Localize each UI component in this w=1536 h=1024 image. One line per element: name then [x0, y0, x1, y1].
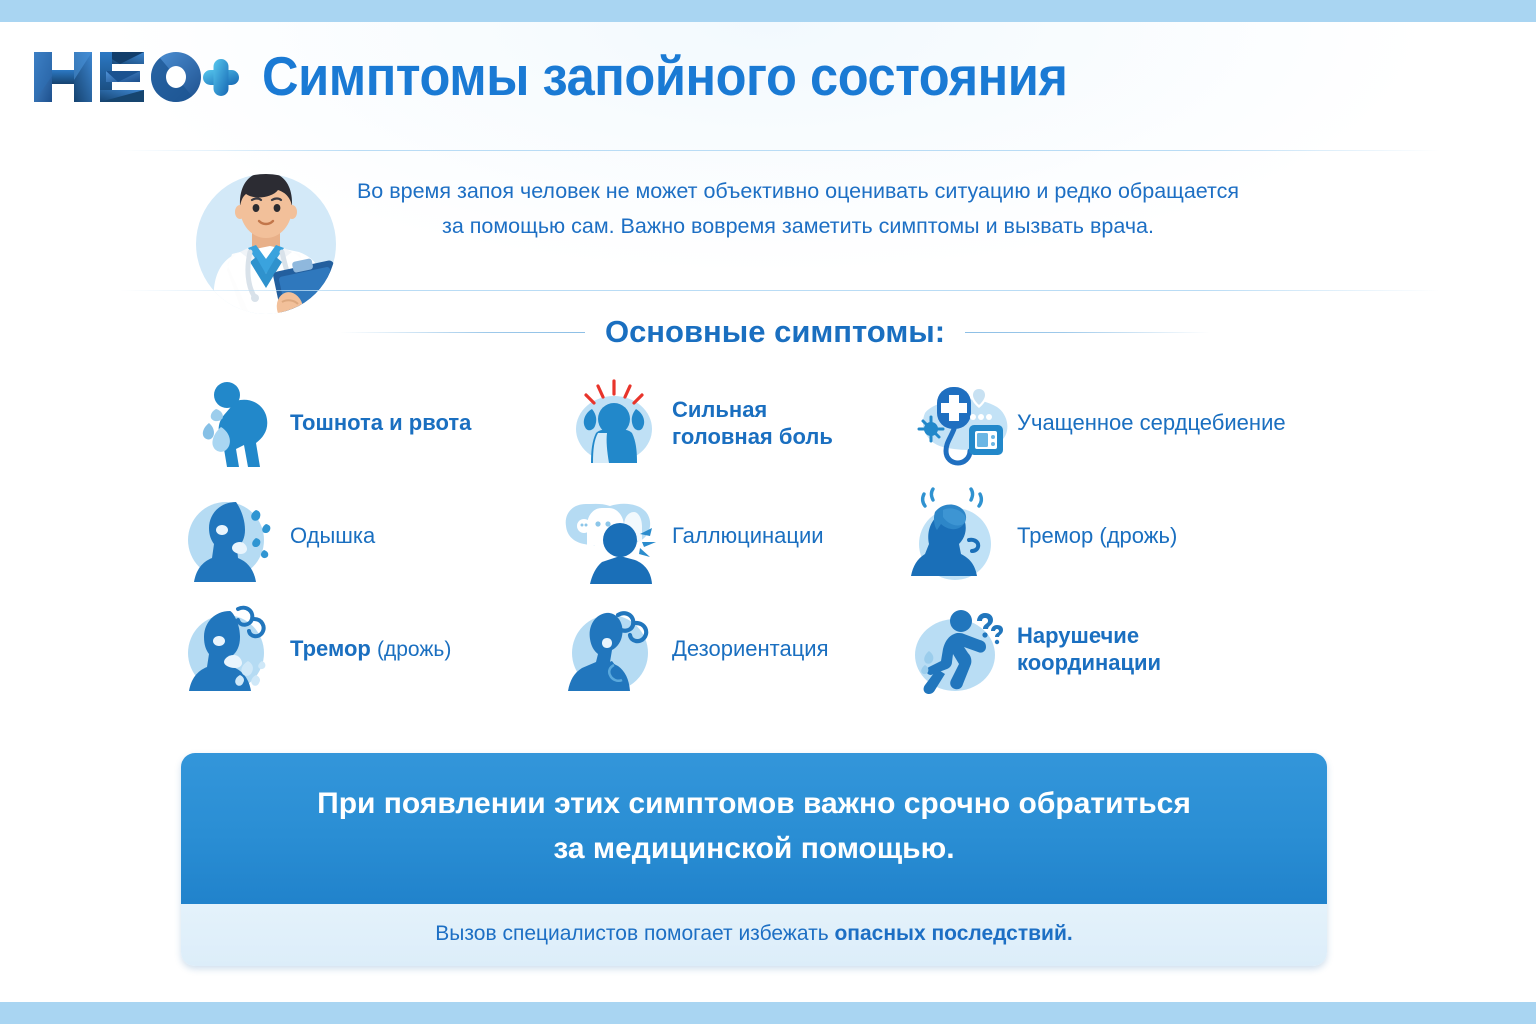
symptom-item-headache: Сильнаяголовная боль: [562, 373, 907, 473]
symptom-item-nausea: Тошнота и рвота: [180, 373, 562, 473]
callout-footer-text: Вызов специалистов помогает избежать опа…: [181, 901, 1327, 966]
section-heading: Основные симптомы:: [340, 310, 1210, 354]
symptom-grid: Тошнота и рвота: [180, 366, 1360, 705]
tremor-sweat-icon: [180, 599, 284, 699]
page-title: Симптомы запойного состояния: [262, 44, 1067, 108]
neo-plus-logo: [28, 46, 240, 108]
disorientation-icon: [562, 599, 666, 699]
callout-banner: При появлении этих симптомов важно срочн…: [181, 753, 1327, 966]
header: Симптомы запойного состояния: [0, 22, 1536, 130]
intro-text: Во время запоя человек не может объектив…: [318, 174, 1278, 244]
heading-rule-right: [965, 332, 1210, 333]
callout-footer-bold: опасных последствий.: [834, 922, 1072, 945]
symptom-label: Сильнаяголовная боль: [672, 396, 833, 450]
symptom-item-hallucinations: Галлюцинации: [562, 486, 907, 586]
symptom-label: Учащенное сердцебиение: [1017, 409, 1286, 436]
symptom-row: Тошнота и рвота: [180, 366, 1360, 479]
heading-rule-left: [340, 332, 585, 333]
vomiting-icon: [180, 373, 284, 473]
symptom-label: Тремор (дрожь): [1017, 522, 1177, 549]
headache-icon: [562, 373, 666, 473]
symptom-label: Нарушечиекоординации: [1017, 622, 1161, 676]
symptom-row: Тремор (дрожь) Дезориентация: [180, 592, 1360, 705]
symptom-label: Дезориентация: [672, 635, 829, 662]
callout-footer-plain: Вызов специалистов помогает избежать: [435, 922, 834, 945]
intro-line-1: Во время запоя человек не может объектив…: [318, 174, 1278, 209]
symptom-label: Одышка: [290, 522, 375, 549]
symptom-item-coordination: Нарушечиекоординации: [907, 599, 1357, 699]
symptom-row: Одышка Галлюцинации: [180, 479, 1360, 592]
infographic-page: Симптомы запойного состояния: [0, 22, 1536, 1002]
symptom-item-disorientation: Дезориентация: [562, 599, 907, 699]
section-title: Основные симптомы:: [605, 314, 945, 350]
symptom-label: Тошнота и рвота: [290, 409, 471, 436]
symptom-item-heartrate: Учащенное сердцебиение: [907, 373, 1357, 473]
shortness-breath-icon: [180, 486, 284, 586]
blood-pressure-icon: [907, 373, 1011, 473]
intro-line-2: за помощью сам. Важно вовремя заметить с…: [318, 209, 1278, 244]
symptom-item-tremor-sweat: Тремор (дрожь): [180, 599, 562, 699]
symptom-label: Тремор (дрожь): [290, 635, 451, 663]
callout-main-text: При появлении этих симптомов важно срочн…: [181, 753, 1327, 901]
symptom-item-tremor-head: Тремор (дрожь): [907, 486, 1357, 586]
divider-top: [120, 150, 1440, 151]
callout-line-1: При появлении этих симптомов важно срочн…: [241, 781, 1267, 826]
divider-middle: [120, 290, 1440, 291]
tremor-head-icon: [907, 486, 1011, 586]
callout-line-2: за медицинской помощью.: [241, 826, 1267, 871]
coordination-icon: [907, 599, 1011, 699]
hallucination-icon: [562, 486, 666, 586]
symptom-item-dyspnea: Одышка: [180, 486, 562, 586]
symptom-label: Галлюцинации: [672, 522, 824, 549]
